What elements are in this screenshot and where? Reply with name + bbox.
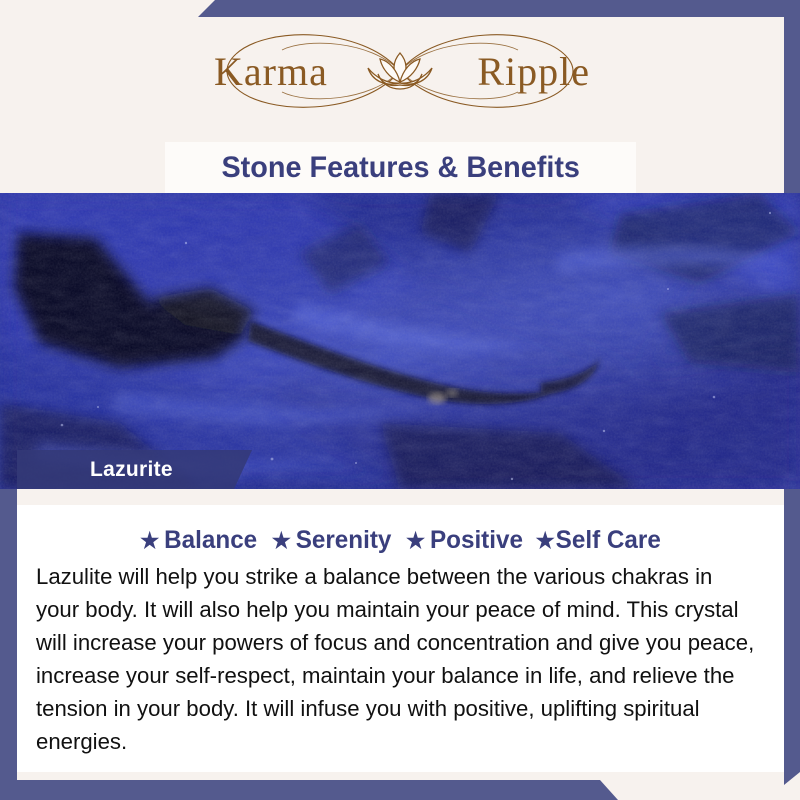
stone-info-card: Karma Ripple Stone Features & Benefits — [0, 0, 800, 800]
brand-word-left: Karma — [208, 48, 328, 95]
stone-name: Lazurite — [17, 458, 173, 482]
content-top-strip — [17, 489, 784, 505]
keyword-label: Serenity — [296, 526, 392, 555]
stone-photo — [0, 193, 800, 489]
keyword-label: Balance — [164, 526, 257, 555]
decor-left-strip — [0, 463, 17, 800]
star-icon: ★ — [406, 530, 425, 552]
star-icon: ★ — [140, 530, 159, 552]
keyword-item-balance: ★ Balance — [140, 526, 257, 555]
page-title: Stone Features & Benefits — [221, 151, 579, 185]
keyword-label: Positive — [430, 526, 523, 555]
star-icon: ★ — [272, 530, 291, 552]
stone-description: Lazulite will help you strike a balance … — [36, 560, 755, 758]
keyword-list: ★ Balance ★ Serenity ★ Positive ★ Self C… — [29, 526, 773, 555]
decor-right-notch — [784, 755, 800, 785]
decor-bottom-band — [0, 780, 800, 800]
keyword-item-self-care: ★ Self Care — [536, 526, 661, 555]
content-panel: ★ Balance ★ Serenity ★ Positive ★ Self C… — [17, 489, 784, 772]
keyword-label: Self Care — [556, 526, 661, 555]
decor-top-band — [0, 0, 800, 17]
keyword-item-serenity: ★ Serenity — [272, 526, 392, 555]
brand-word-right: Ripple — [477, 48, 592, 95]
page-title-plate: Stone Features & Benefits — [165, 142, 636, 193]
star-icon: ★ — [536, 530, 555, 552]
keyword-item-positive: ★ Positive — [406, 526, 523, 555]
brand-logo: Karma Ripple — [0, 26, 800, 116]
stone-name-banner: Lazurite — [17, 450, 252, 489]
